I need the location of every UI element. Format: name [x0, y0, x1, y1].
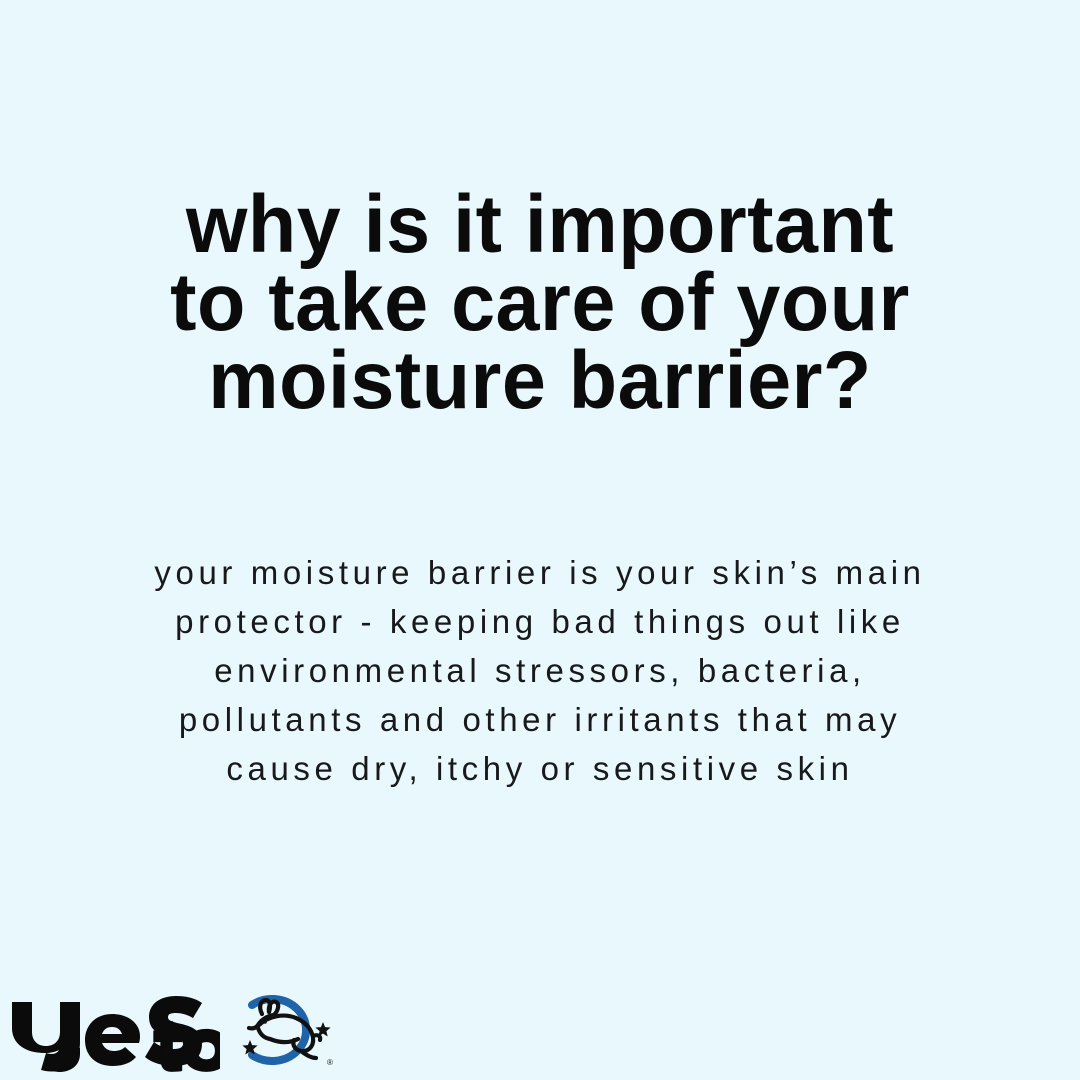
logo-lockup: ®: [8, 992, 340, 1074]
body-line-3: environmental stressors, bacteria,: [0, 646, 1080, 695]
body-paragraph: your moisture barrier is your skin’s mai…: [0, 548, 1080, 793]
page-title: why is it important to take care of your…: [0, 186, 1080, 420]
leaping-bunny-icon: ®: [228, 992, 340, 1068]
yesto-logo: [8, 996, 220, 1074]
bunny-eye-icon: [263, 1020, 267, 1024]
social-card: why is it important to take care of your…: [0, 0, 1080, 1080]
body-line-1: your moisture barrier is your skin’s mai…: [0, 548, 1080, 597]
headline-line-2: to take care of your: [19, 264, 1061, 342]
body-line-4: pollutants and other irritants that may: [0, 695, 1080, 744]
body-line-5: cause dry, itchy or sensitive skin: [0, 744, 1080, 793]
registered-symbol: ®: [327, 1058, 333, 1067]
body-line-2: protector - keeping bad things out like: [0, 597, 1080, 646]
headline-line-3: moisture barrier?: [19, 342, 1061, 420]
headline-line-1: why is it important: [19, 186, 1061, 264]
